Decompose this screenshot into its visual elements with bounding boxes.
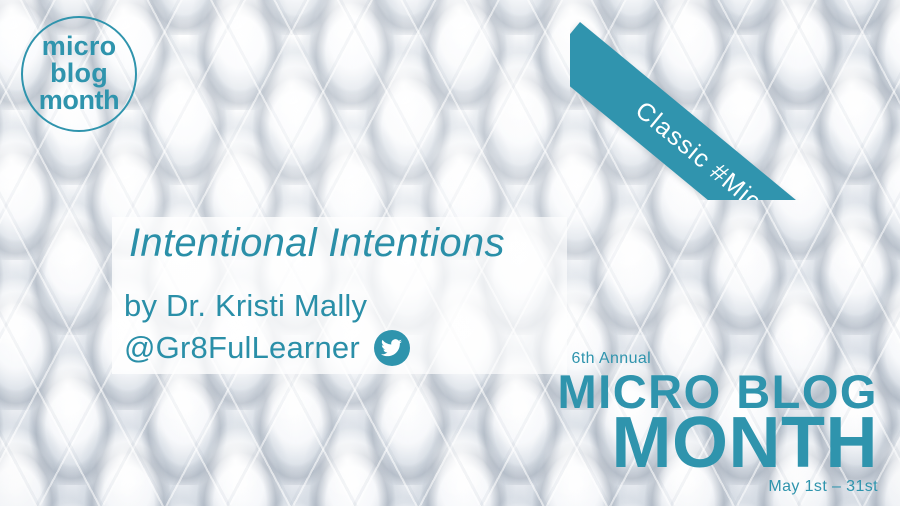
post-handle: @Gr8FulLearner — [124, 330, 360, 366]
ribbon-label: Classic #Microblog — [630, 96, 827, 200]
post-title: Intentional Intentions — [129, 221, 569, 266]
corner-ribbon: Classic #Microblog — [570, 0, 900, 200]
logo-line-blog: blog — [50, 61, 108, 87]
ribbon-band: Classic #Microblog — [570, 22, 900, 200]
event-lockup: 6th Annual MICRO BLOG MONTH May 1st – 31… — [558, 350, 878, 496]
promo-graphic: micro blog month Classic #Microblog Inte… — [0, 0, 900, 506]
event-name-line2: MONTH — [558, 412, 878, 475]
logo-line-micro: micro — [42, 34, 117, 60]
logo-line-month: month — [39, 88, 119, 114]
twitter-bird-icon[interactable] — [374, 330, 410, 366]
post-byline: by Dr. Kristi Mally — [124, 288, 367, 324]
micro-blog-month-logo: micro blog month — [21, 16, 137, 132]
handle-row: @Gr8FulLearner — [124, 330, 410, 366]
